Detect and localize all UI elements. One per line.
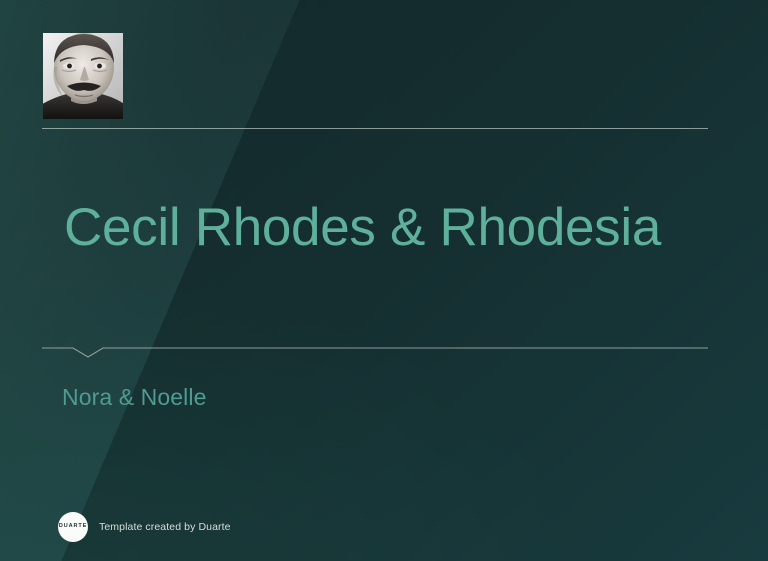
footer-credit-text: Template created by Duarte [99,521,231,533]
header-divider [42,128,708,129]
page-title: Cecil Rhodes & Rhodesia [64,198,724,257]
slide-subtitle-authors: Nora & Noelle [62,384,206,411]
footer-credit: DUARTE Template created by Duarte [58,512,231,542]
portrait-image [43,33,123,119]
duarte-logo-label: DUARTE [59,524,87,530]
title-divider-notched [42,338,708,360]
title-slide: Cecil Rhodes & Rhodesia Nora & Noelle DU… [0,0,768,561]
duarte-logo-icon: DUARTE [58,512,88,542]
